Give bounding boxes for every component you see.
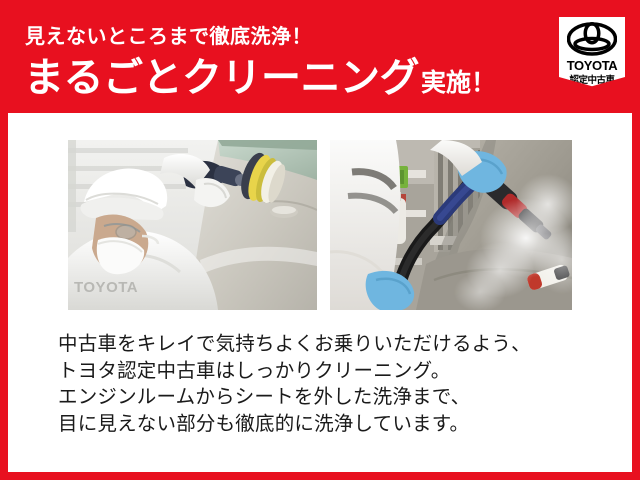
promotional-banner: 見えないところまで徹底洗浄！ まるごとクリーニング 実施！ TOYOTA 認定中… [0, 0, 640, 480]
toyota-wordmark: TOYOTA [559, 58, 625, 73]
photo-interior-steam-cleaning [330, 140, 572, 310]
content-panel: TOYOTA [8, 113, 632, 472]
photo-exterior-polishing: TOYOTA [68, 140, 317, 310]
body-copy: 中古車をキレイで気持ちよくお乗りいただけるよう、 トヨタ認定中古車はしっかりクリ… [58, 331, 598, 437]
photo-row: TOYOTA [68, 140, 572, 310]
body-copy-line-4: 目に見えない部分も徹底的に洗浄しています。 [58, 411, 598, 438]
body-copy-line-2: トヨタ認定中古車はしっかりクリーニング。 [58, 358, 598, 385]
toyota-emblem-icon [567, 22, 617, 56]
banner-header: 見えないところまで徹底洗浄！ まるごとクリーニング 実施！ TOYOTA 認定中… [0, 0, 640, 113]
body-copy-line-1: 中古車をキレイで気持ちよくお乗りいただけるよう、 [58, 331, 598, 358]
photo-interior-steam-cleaning-image [330, 140, 572, 310]
photo-exterior-polishing-image: TOYOTA [68, 140, 317, 310]
body-copy-line-3: エンジンルームからシートを外した洗浄まで、 [58, 384, 598, 411]
main-headline: まるごとクリーニング [24, 58, 419, 98]
main-headline-group: まるごとクリーニング 実施！ [24, 58, 496, 98]
uniform-logo-text: TOYOTA [74, 279, 138, 296]
main-headline-suffix: 実施！ [421, 71, 496, 96]
toyota-certified-used-car-badge: TOYOTA 認定中古車 [556, 14, 628, 100]
sub-headline: 見えないところまで徹底洗浄！ [25, 27, 312, 47]
badge-inner: TOYOTA 認定中古車 [559, 17, 625, 97]
